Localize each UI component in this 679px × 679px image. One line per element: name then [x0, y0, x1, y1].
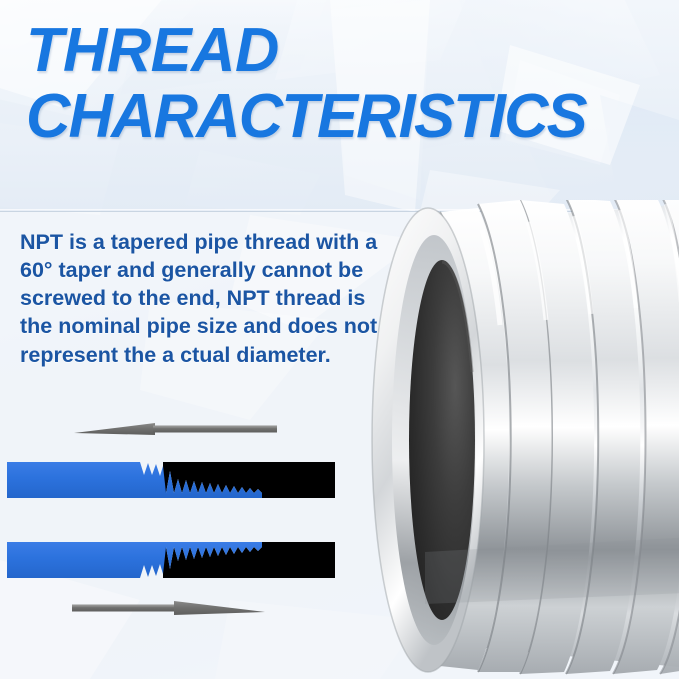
- description-text: NPT is a tapered pipe thread with a 60° …: [20, 228, 390, 369]
- arrow-bottom-right: [72, 601, 265, 615]
- page-title: THREAD CHARACTERISTICS: [26, 22, 666, 145]
- title-line-1: THREAD: [26, 22, 660, 80]
- thread-pair-bottom: [7, 542, 335, 578]
- thread-diagram-svg: [0, 405, 345, 635]
- thread-pair-top: [7, 462, 335, 498]
- arrow-top-left: [74, 420, 277, 435]
- thread-engagement-diagram: [0, 405, 345, 635]
- infographic-page: THREAD CHARACTERISTICS: [0, 0, 679, 679]
- title-line-2: CHARACTERISTICS: [26, 88, 660, 146]
